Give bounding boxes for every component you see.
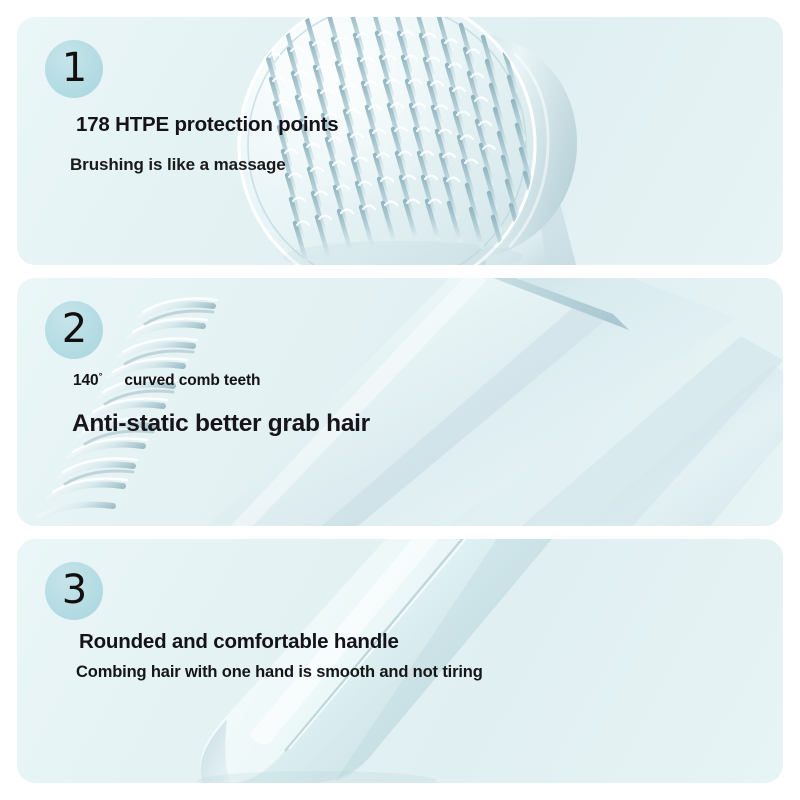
degree-symbol: ° [99, 371, 103, 382]
infographic-page: 1 178 HTPE protection points Brushing is… [0, 0, 800, 800]
feature-subtitle-1: Brushing is like a massage [70, 155, 286, 175]
curved-comb-teeth-illustration [17, 278, 783, 526]
feature-title-3: Rounded and comfortable handle [79, 630, 399, 654]
rounded-handle-illustration [17, 539, 783, 783]
feature-card-1: 1 [17, 17, 783, 265]
step-number-3: 3 [62, 570, 86, 610]
step-number-1: 1 [62, 48, 86, 88]
round-brush-head-illustration [17, 17, 783, 265]
step-badge-2: 2 [45, 301, 103, 359]
feature-card-3: 3 [17, 539, 783, 783]
spec-label: curved comb teeth [124, 372, 260, 389]
step-badge-3: 3 [45, 562, 103, 620]
step-badge-1: 1 [45, 40, 103, 98]
feature-title-2: Anti-static better grab hair [72, 410, 370, 438]
spec-value: 140 [73, 372, 99, 389]
feature-title-1: 178 HTPE protection points [76, 113, 338, 137]
feature-subtitle-3: Combing hair with one hand is smooth and… [76, 662, 496, 684]
feature-spec-2: 140°curved comb teeth [73, 372, 260, 390]
step-number-2: 2 [62, 309, 86, 349]
feature-card-2: 2 [17, 278, 783, 526]
